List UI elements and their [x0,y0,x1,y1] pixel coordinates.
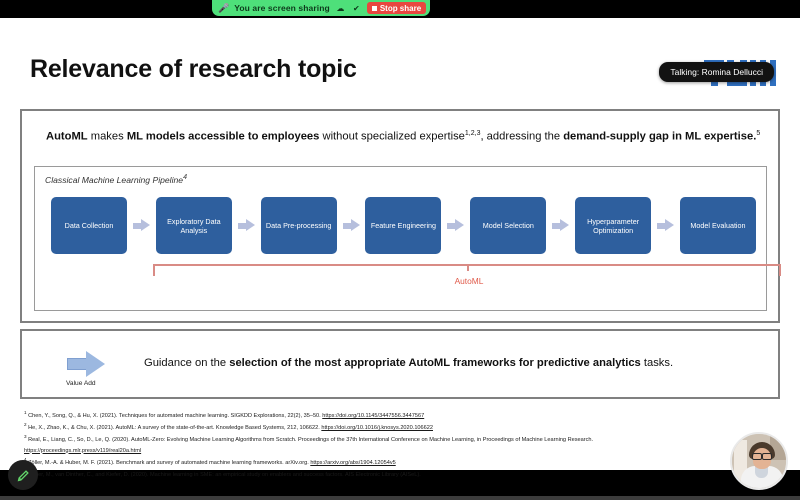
headline-part-1: AutoML [46,131,88,143]
pipeline-step-eda[interactable]: Exploratory Data Analysis [156,197,232,254]
bottom-bar [0,496,800,500]
pipeline-label-sup: 4 [183,174,187,181]
pipeline-arrow-4 [441,219,470,232]
screen-share-status: You are screen sharing [234,3,330,13]
reference-link[interactable]: https://proceedings.mlr.press/v119/real2… [24,448,141,454]
reference-link[interactable]: https://arxiv.org/abs/1904.12054v5 [310,460,395,466]
headline-part-6: demand-supply gap in ML expertise [563,131,753,143]
headline-statement: AutoML makes ML models accessible to emp… [46,129,764,144]
page-title: Relevance of research topic [30,55,357,84]
reference-link[interactable]: https://doi.org/10.1016/j.knosys.2020.10… [321,425,433,431]
headline-sup-2: 5 [756,130,760,137]
reference-item: 5 Bauer, M., van Dinther, C., and Kiefer… [24,468,724,480]
stop-square-icon [372,6,377,11]
arrow-right-icon [133,219,150,232]
pipeline-arrow-5 [546,219,575,232]
reference-text: Real, E., Liang, C., So, D., Le, Q. (202… [28,437,593,443]
headline-part-4: without specialized expertise [319,131,465,143]
value-add-label: Value Add [66,380,96,387]
value-add-arrow-icon [67,351,107,377]
reference-number: 2 [24,422,27,427]
pipeline-step-data-collection[interactable]: Data Collection [51,197,127,254]
pipeline-arrow-3 [337,219,366,232]
pipeline-arrow-2 [232,219,261,232]
arrow-right-icon [552,219,569,232]
pipeline-arrow-6 [651,219,680,232]
talking-indicator: Talking: Romina Dellucci [659,62,774,82]
pipeline-step-feature-engineering[interactable]: Feature Engineering [365,197,441,254]
screen-share-bar: 🎤 You are screen sharing ☁ ✔ Stop share [0,0,800,18]
pipeline-step-hyperparameter-optimization[interactable]: Hyperparameter Optimization [575,197,651,254]
pipeline-step-model-selection[interactable]: Model Selection [470,197,546,254]
headline-part-2: makes [88,131,127,143]
cloud-recording-icon[interactable]: ☁ [335,3,346,14]
participant-video-thumbnail[interactable] [730,432,788,490]
microphone-icon: 🎤 [218,4,229,13]
pipeline-label: Classical Machine Learning Pipeline4 [45,174,187,185]
content-frame-main: AutoML makes ML models accessible to emp… [20,109,780,323]
presentation-slide: Relevance of research topic Talking: Rom… [0,18,800,470]
content-frame-value-add: Value Add Guidance on the selection of t… [20,329,780,399]
reference-item: 3 Real, E., Liang, C., So, D., Le, Q. (2… [24,433,724,445]
value-add-part-2: selection of the most appropriate AutoML… [229,357,641,369]
arrow-right-icon [447,219,464,232]
value-add-part-3: tasks. [641,357,673,369]
reference-number: 3 [24,434,27,439]
screen-share-pill: 🎤 You are screen sharing ☁ ✔ Stop share [212,0,430,16]
reference-item: 4 Zöller, M.-A. & Huber, M. F. (2021). B… [24,456,724,468]
stop-share-button[interactable]: Stop share [367,2,426,14]
reference-item: 1 Chen, Y., Song, Q., & Hu, X. (2021). T… [24,409,724,421]
pipeline-container: Classical Machine Learning Pipeline4 Dat… [34,166,767,311]
headline-part-5: , addressing the [480,131,563,143]
shield-icon[interactable]: ✔ [351,3,362,14]
value-add-statement: Guidance on the selection of the most ap… [144,357,758,369]
screen-share-window: 🎤 You are screen sharing ☁ ✔ Stop share … [0,0,800,500]
pipeline-label-text: Classical Machine Learning Pipeline [45,175,183,185]
references-list: 1 Chen, Y., Song, Q., & Hu, X. (2021). T… [24,409,724,480]
pencil-icon [16,468,31,483]
arrow-right-icon [657,219,674,232]
automl-bracket-label: AutoML [155,276,783,286]
reference-number: 1 [24,410,27,415]
reference-item: https://proceedings.mlr.press/v119/real2… [24,446,724,456]
reference-text: He, X., Zhao, K., & Chu, X. (2021). Auto… [28,425,321,431]
automl-bracket: AutoML [153,264,781,276]
reference-text: Zöller, M.-A. & Huber, M. F. (2021). Ben… [28,460,310,466]
reference-item: 2 He, X., Zhao, K., & Chu, X. (2021). Au… [24,421,724,433]
stop-share-label: Stop share [380,4,421,13]
value-add-part-1: Guidance on the [144,357,229,369]
reference-link[interactable]: https://doi.org/10.1145/3447556.3447567 [322,413,424,419]
headline-sup-1: 1,2,3 [465,130,481,137]
glasses-icon [752,453,772,458]
annotate-button[interactable] [8,460,38,490]
reference-text: Bauer, M., van Dinther, C., and Kiefer, … [28,472,421,478]
arrow-right-icon [343,219,360,232]
pipeline-step-preprocessing[interactable]: Data Pre-processing [261,197,337,254]
pipeline-steps: Data Collection Exploratory Data Analysi… [51,197,756,254]
arrow-right-icon [238,219,255,232]
reference-text: Chen, Y., Song, Q., & Hu, X. (2021). Tec… [28,413,322,419]
pipeline-arrow-1 [127,219,156,232]
headline-part-3: ML models accessible to employees [127,131,320,143]
pipeline-step-model-evaluation[interactable]: Model Evaluation [680,197,756,254]
